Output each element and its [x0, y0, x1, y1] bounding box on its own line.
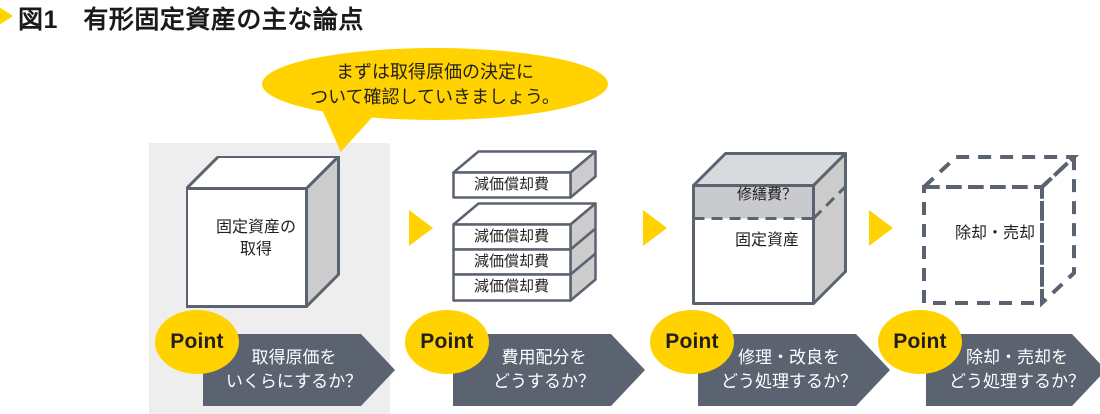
- point-badge-acquisition: Point: [155, 310, 239, 374]
- slab-label-2: 減価償却費: [449, 228, 574, 246]
- slab-label-1: 減価償却費: [449, 176, 574, 194]
- slab-label-3: 減価償却費: [449, 253, 574, 271]
- point-badge-label-repair: Point: [665, 330, 719, 354]
- page-title: 図1 有形固定資産の主な論点: [18, 0, 364, 36]
- cube-shape: [186, 156, 354, 308]
- callout-bubble: まずは取得原価の決定に ついて確認していきましょう。: [262, 48, 608, 120]
- point-badge-label-disposal: Point: [893, 330, 947, 354]
- point-badge-depreciation: Point: [405, 310, 489, 374]
- point-badge-label-depreciation: Point: [420, 330, 474, 354]
- point-badge-disposal: Point: [878, 310, 962, 374]
- figure-title-bar: 図1 有形固定資産の主な論点: [0, 0, 1100, 34]
- triangle-right-icon: [869, 210, 893, 246]
- slab-label-4: 減価償却費: [449, 278, 574, 296]
- figure-canvas: 図1 有形固定資産の主な論点 まずは取得原価の決定に ついて確認していきましょう…: [0, 0, 1100, 414]
- triangle-right-icon: [0, 5, 13, 27]
- stage-cube-disposal: 除却・売却: [922, 155, 1090, 307]
- stage-cube-acquisition: 固定資産の 取得: [186, 156, 354, 308]
- cube-dashed-shape: [922, 155, 1090, 307]
- point-group-depreciation: 費用配分を どうするか？ Point: [405, 310, 645, 410]
- cube-split-shape: [692, 152, 860, 306]
- point-group-acquisition: 取得原価を いくらにするか？ Point: [155, 310, 395, 410]
- point-badge-repair: Point: [650, 310, 734, 374]
- point-group-disposal: 除却・売却を どう処理するか？ Point: [878, 310, 1100, 410]
- triangle-right-icon: [409, 210, 433, 246]
- stage-cube-repair: 修繕費？ 固定資産: [692, 152, 860, 306]
- callout-text: まずは取得原価の決定に ついて確認していきましょう。: [262, 60, 608, 110]
- point-group-repair: 修理・改良を どう処理するか？ Point: [650, 310, 890, 410]
- triangle-right-icon: [643, 210, 667, 246]
- stage-stack-depreciation: 減価償却費 減価償却費 減価償却費 減価償却費: [452, 150, 612, 302]
- point-badge-label-acquisition: Point: [170, 330, 224, 354]
